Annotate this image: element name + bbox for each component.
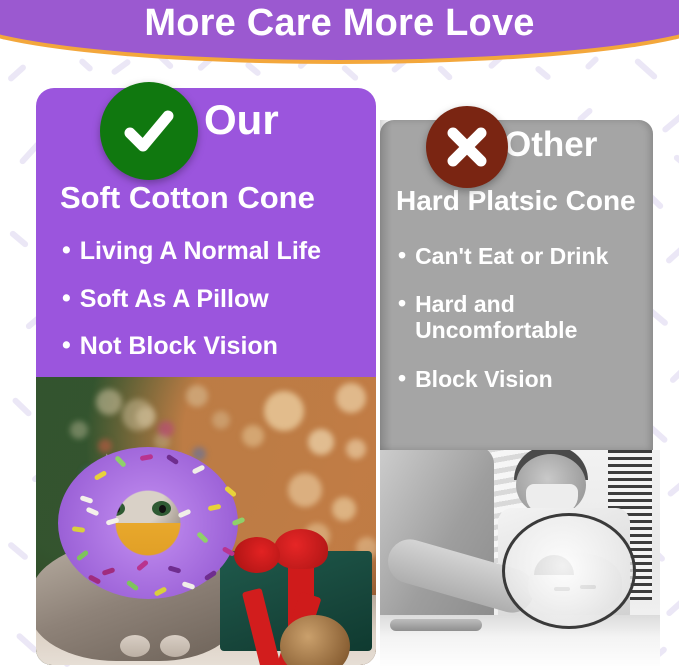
bokeh-light <box>336 383 366 413</box>
list-item: • Living A Normal Life <box>62 237 372 266</box>
list-item-label: Not Block Vision <box>80 332 278 361</box>
list-item: • Block Vision <box>398 366 648 392</box>
list-item-label: Soft As A Pillow <box>80 285 269 314</box>
confetti-dash <box>534 65 552 81</box>
bokeh-light <box>122 399 154 431</box>
bullet-marker: • <box>398 366 406 391</box>
confetti-dash <box>7 541 29 561</box>
confetti-dash <box>665 245 679 264</box>
our-product-photo <box>36 377 376 665</box>
list-item-label: Living A Normal Life <box>80 237 321 266</box>
cat-paw <box>120 635 150 657</box>
x-circle-icon <box>426 106 508 188</box>
bokeh-light <box>308 429 334 455</box>
cat-paw <box>160 635 190 657</box>
list-item-label: Can't Eat or Drink <box>415 243 608 269</box>
confetti-dash <box>669 366 679 384</box>
confetti-dash <box>7 63 27 82</box>
bokeh-light <box>186 385 208 407</box>
confetti-dash <box>9 230 30 249</box>
other-bullet-list: • Can't Eat or Drink • Hard and Uncomfor… <box>398 243 648 414</box>
bokeh-light <box>70 421 88 439</box>
bokeh-light <box>346 439 366 459</box>
other-heading: Other <box>504 125 597 165</box>
page-title: More Care More Love <box>0 2 679 45</box>
confetti-dash <box>666 480 679 497</box>
product-comparison-infographic: More Care More Love Our Soft Cotton Cone… <box>0 0 679 671</box>
gift-bow <box>274 529 328 569</box>
bullet-marker: • <box>62 332 71 359</box>
confetti-dash <box>673 154 679 173</box>
plastic-cone <box>502 513 636 629</box>
confetti-dash <box>661 112 679 133</box>
list-item: • Soft As A Pillow <box>62 285 372 314</box>
confetti-dash <box>110 58 131 76</box>
bokeh-light <box>96 389 122 415</box>
confetti-dash <box>634 57 659 80</box>
confetti-dash <box>11 397 32 418</box>
bokeh-light <box>98 439 112 453</box>
our-heading: Our <box>204 96 279 144</box>
gift-bow <box>234 537 280 573</box>
confetti-dash <box>78 57 94 72</box>
bullet-marker: • <box>62 237 71 264</box>
list-item: • Can't Eat or Drink <box>398 243 648 269</box>
cone-opening <box>108 485 188 559</box>
confetti-dash <box>665 597 679 618</box>
confetti-dash <box>244 61 262 77</box>
confetti-dash <box>584 55 600 70</box>
check-circle-icon <box>100 82 198 180</box>
bullet-marker: • <box>398 291 406 316</box>
bokeh-light <box>212 411 230 429</box>
bokeh-light <box>242 425 264 447</box>
list-item: • Not Block Vision <box>62 332 372 361</box>
bokeh-light <box>288 473 322 507</box>
bokeh-light <box>332 497 356 521</box>
list-item-label: Hard and Uncomfortable <box>415 291 648 343</box>
bokeh-light <box>264 391 304 431</box>
bokeh-light <box>158 421 174 437</box>
list-item-label: Block Vision <box>415 366 553 392</box>
bullet-marker: • <box>398 243 406 268</box>
list-item: • Hard and Uncomfortable <box>398 291 648 343</box>
other-subheading: Hard Platsic Cone <box>396 185 636 217</box>
metal-tray <box>390 619 482 631</box>
bullet-marker: • <box>62 285 71 312</box>
our-bullet-list: • Living A Normal Life • Soft As A Pillo… <box>62 237 372 380</box>
confetti-dash <box>436 65 453 82</box>
our-subheading: Soft Cotton Cone <box>60 180 315 216</box>
confetti-dash <box>341 64 360 82</box>
other-product-photo <box>380 450 660 671</box>
